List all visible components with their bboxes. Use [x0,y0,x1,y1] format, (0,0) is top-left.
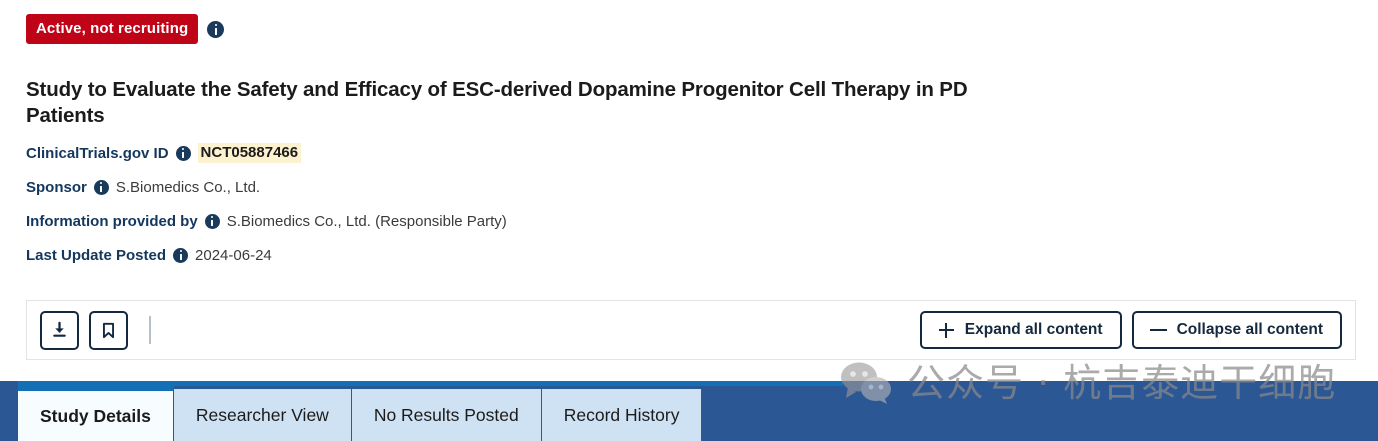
tab-label: Researcher View [196,405,329,426]
status-row: Active, not recruiting [26,14,224,44]
status-badge: Active, not recruiting [26,14,198,44]
status-info-icon[interactable] [207,21,224,38]
meta-label: ClinicalTrials.gov ID [26,145,169,162]
page-title: Study to Evaluate the Safety and Efficac… [26,77,994,129]
toolbar-divider [149,316,151,344]
meta-row-sponsor: Sponsor S.Biomedics Co., Ltd. [26,177,1126,197]
toolbar-right-group: Expand all content Collapse all content [920,311,1342,349]
meta-value-information-provided-by: S.Biomedics Co., Ltd. (Responsible Party… [227,213,507,230]
info-icon[interactable] [205,214,220,229]
tab-label: No Results Posted [374,405,519,426]
info-icon[interactable] [176,146,191,161]
minus-icon [1151,323,1166,338]
tab-label: Record History [564,405,680,426]
meta-value-nct-id: NCT05887466 [198,143,302,163]
tab-bar: Study Details Researcher View No Results… [0,381,1378,441]
collapse-all-content-label: Collapse all content [1177,321,1323,339]
meta-label: Information provided by [26,213,198,230]
info-icon[interactable] [173,248,188,263]
bookmark-icon [99,321,118,340]
info-icon[interactable] [94,180,109,195]
expand-all-content-label: Expand all content [965,321,1103,339]
toolbar-left-group [40,311,151,350]
meta-label: Sponsor [26,179,87,196]
tab-list: Study Details Researcher View No Results… [18,386,702,441]
collapse-all-content-button[interactable]: Collapse all content [1132,311,1342,349]
tab-study-details[interactable]: Study Details [18,386,174,441]
tab-label: Study Details [40,406,151,427]
download-button[interactable] [40,311,79,350]
meta-row-clinicaltrials-id: ClinicalTrials.gov ID NCT05887466 [26,143,1126,163]
download-icon [50,321,69,340]
meta-row-information-provided-by: Information provided by S.Biomedics Co.,… [26,211,1126,231]
meta-value-last-update-posted: 2024-06-24 [195,247,272,264]
meta-label: Last Update Posted [26,247,166,264]
study-metadata-list: ClinicalTrials.gov ID NCT05887466 Sponso… [26,143,1126,279]
tab-record-history[interactable]: Record History [541,389,703,441]
tab-researcher-view[interactable]: Researcher View [173,389,352,441]
meta-value-sponsor: S.Biomedics Co., Ltd. [116,179,260,196]
action-toolbar: Expand all content Collapse all content [26,300,1356,360]
tab-no-results-posted[interactable]: No Results Posted [351,389,542,441]
expand-all-content-button[interactable]: Expand all content [920,311,1122,349]
bookmark-button[interactable] [89,311,128,350]
plus-icon [939,323,954,338]
meta-row-last-update-posted: Last Update Posted 2024-06-24 [26,245,1126,265]
